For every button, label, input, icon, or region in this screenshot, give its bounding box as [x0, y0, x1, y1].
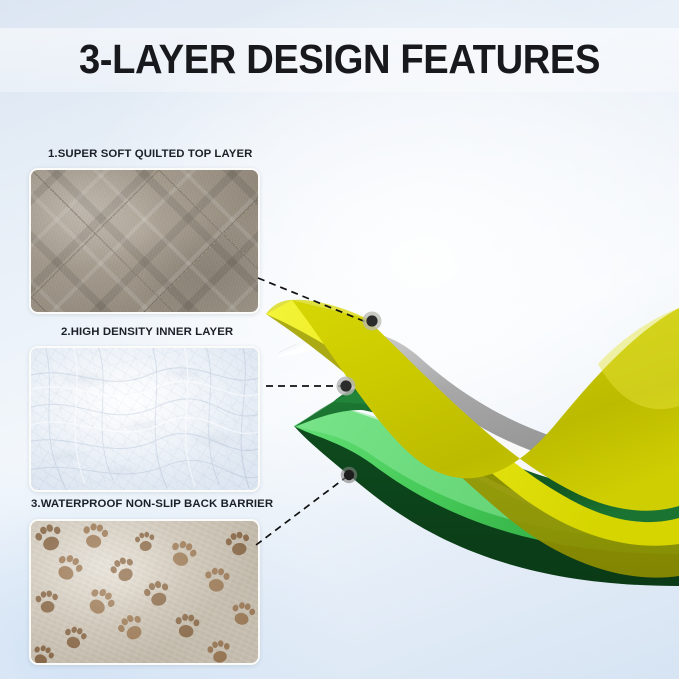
quilt-vignette [31, 170, 258, 312]
callout-label-inner-layer: 2.HIGH DENSITY INNER LAYER [61, 326, 233, 338]
callout-label-top-layer: 1.SUPER SOFT QUILTED TOP LAYER [48, 148, 252, 160]
quilted-fabric-swatch [29, 168, 260, 314]
callout-label-back-barrier: 3.WATERPROOF NON-SLIP BACK BARRIER [31, 498, 273, 510]
paw-vignette [31, 521, 258, 663]
fiber-vignette [31, 348, 258, 490]
infographic-canvas: 3-LAYER DESIGN FEATURES [0, 0, 679, 679]
paw-print-swatch [29, 519, 260, 665]
fiber-batting-swatch [29, 346, 260, 492]
page-title: 3-LAYER DESIGN FEATURES [24, 30, 655, 88]
three-layer-cutaway-illustration [232, 286, 679, 606]
